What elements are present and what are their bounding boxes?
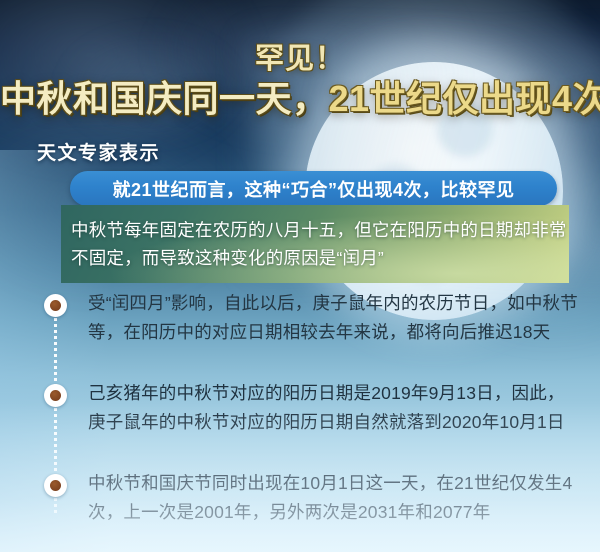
subheading-label: 天文专家表示	[37, 138, 160, 165]
poster-canvas: 罕见！ 中秋和国庆同一天，21世纪仅出现4次 天文专家表示 就21世纪而言，这种…	[0, 0, 600, 552]
list-item-text: 己亥猪年的中秋节对应的阳历日期是2019年9月13日，因此，庚子鼠年的中秋节对应…	[88, 379, 580, 438]
explanation-panel-text: 中秋节每年固定在农历的八月十五，但它在阳历中的日期却非常不固定，而导致这种变化的…	[71, 216, 567, 273]
headline-segment-accent: 21世纪仅出现4次	[329, 78, 600, 119]
cloud-wisp	[60, 30, 240, 140]
highlight-pill-text: 就21世纪而言，这种“巧合”仅出现4次，比较罕见	[112, 176, 514, 202]
circle-bullet-icon	[44, 474, 67, 497]
headline-segment-primary: 中秋和国庆同一天，	[0, 78, 329, 119]
title-block: 罕见！ 中秋和国庆同一天，21世纪仅出现4次	[0, 44, 600, 120]
kicker-text: 罕见！	[0, 44, 600, 74]
list-item: 中秋节和国庆节同时出现在10月1日这一天，在21世纪仅发生4次，上一次是2001…	[0, 469, 600, 528]
list-item-text: 中秋节和国庆节同时出现在10月1日这一天，在21世纪仅发生4次，上一次是2001…	[88, 469, 580, 528]
explanation-panel: 中秋节每年固定在农历的八月十五，但它在阳历中的日期却非常不固定，而导致这种变化的…	[61, 205, 569, 283]
list-item: 己亥猪年的中秋节对应的阳历日期是2019年9月13日，因此，庚子鼠年的中秋节对应…	[0, 379, 600, 438]
timeline-list: 受“闰四月”影响，自此以后，庚子鼠年内的农历节日，如中秋节等，在阳历中的对应日期…	[0, 283, 600, 552]
list-item: 受“闰四月”影响，自此以后，庚子鼠年内的农历节日，如中秋节等，在阳历中的对应日期…	[0, 289, 600, 348]
list-item-text: 受“闰四月”影响，自此以后，庚子鼠年内的农历节日，如中秋节等，在阳历中的对应日期…	[88, 289, 580, 348]
circle-bullet-icon	[44, 384, 67, 407]
cloud-wisp	[0, 0, 260, 170]
highlight-pill-banner: 就21世纪而言，这种“巧合”仅出现4次，比较罕见	[70, 171, 557, 206]
circle-bullet-icon	[44, 294, 67, 317]
cloud-wisp	[150, 0, 470, 140]
cloud-wisp	[330, 0, 600, 200]
page-title: 中秋和国庆同一天，21世纪仅出现4次	[0, 79, 600, 119]
